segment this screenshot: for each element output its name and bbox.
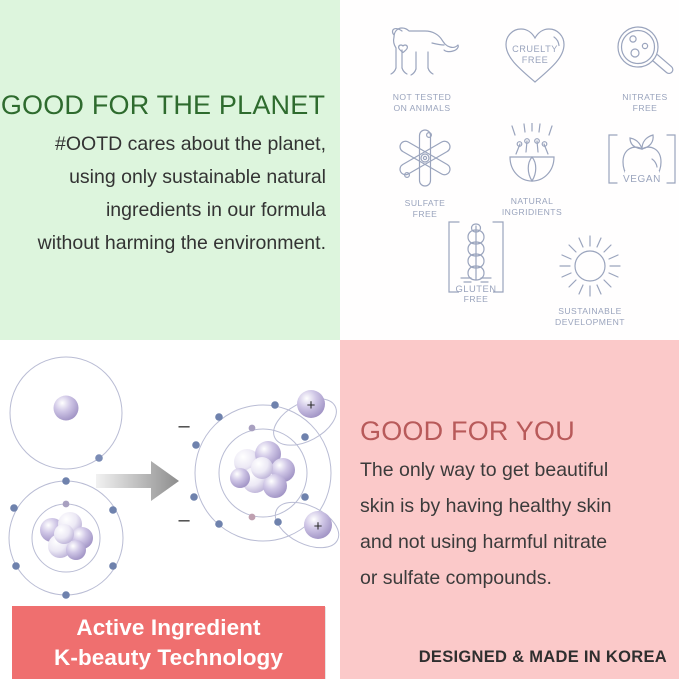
you-body-line-4: or sulfate compounds. <box>360 560 665 596</box>
product-infographic: GOOD FOR THE PLANET #OOTD cares about th… <box>0 0 679 679</box>
badge-caption-suffix: FREE <box>424 294 528 305</box>
planet-body-text: #OOTD cares about the planet, using only… <box>10 128 326 260</box>
electron-dot <box>95 454 103 462</box>
badge-caption: SUSTAINABLE DEVELOPMENT <box>538 306 642 327</box>
planet-heading: GOOD FOR THE PLANET <box>0 90 326 121</box>
sun-icon <box>538 228 642 304</box>
badge-gluten-free: GLUTEN FREE <box>424 220 528 305</box>
you-body-line-1: The only way to get beautiful <box>360 452 665 488</box>
badge-caption: NATURAL INGRIDIENTS <box>480 196 584 217</box>
you-heading: GOOD FOR YOU <box>360 416 575 447</box>
panel-good-for-the-planet: GOOD FOR THE PLANET #OOTD cares about th… <box>0 0 340 340</box>
right-arrow-icon <box>96 461 179 501</box>
banner-line-2: K-beauty Technology <box>54 643 283 673</box>
svg-text:CRUELTY: CRUELTY <box>512 44 558 54</box>
banner-line-1: Active Ingredient <box>76 613 260 643</box>
svg-text:FREE: FREE <box>522 55 549 65</box>
badge-not-tested-on-animals: NOT TESTED ON ANIMALS <box>370 14 474 113</box>
active-ingredient-banner: Active Ingredient K-beauty Technology <box>12 606 325 679</box>
badge-caption: NITRATES FREE <box>593 92 679 113</box>
planet-body-line-1: #OOTD cares about the planet, <box>10 128 326 161</box>
planet-body-line-3: ingredients in our formula <box>10 194 326 227</box>
badge-cruelty-free: CRUELTY FREE <box>483 18 587 94</box>
designed-made-in-korea-label: DESIGNED & MADE IN KOREA <box>340 648 667 667</box>
badge-natural-ingredients: NATURAL INGRIDIENTS <box>480 118 584 217</box>
atom-reaction-diagram: + + – – <box>0 340 340 602</box>
magnifying-glass-icon <box>593 14 679 90</box>
svg-text:GLUTEN: GLUTEN <box>455 283 496 294</box>
sprouting-plant-icon <box>480 118 584 194</box>
molecule-atom-icon <box>373 120 477 196</box>
badge-sulfate-free: SULFATE FREE <box>373 120 477 219</box>
nucleus-sphere <box>54 396 79 421</box>
planet-body-line-4: without harming the environment. <box>10 227 326 260</box>
you-body-line-2: skin is by having healthy skin <box>360 488 665 524</box>
you-body-line-3: and not using harmful nitrate <box>360 524 665 560</box>
badge-nitrates-free: NITRATES FREE <box>593 14 679 113</box>
nucleus-cluster-left <box>40 512 93 560</box>
you-body-text: The only way to get beautiful skin is by… <box>360 452 665 596</box>
badge-caption: NOT TESTED ON ANIMALS <box>370 92 474 113</box>
panel-active-ingredient: + + – – Active Ingredient K-beauty Techn… <box>0 340 340 679</box>
panel-certification-badges: NOT TESTED ON ANIMALS CRUELTY FREE <box>340 0 679 340</box>
plus-sign: + <box>307 397 316 414</box>
badge-sustainable-development: SUSTAINABLE DEVELOPMENT <box>538 228 642 327</box>
badge-vegan: VEGAN <box>590 122 679 198</box>
badge-grid: NOT TESTED ON ANIMALS CRUELTY FREE <box>340 0 679 340</box>
svg-text:VEGAN: VEGAN <box>623 174 661 185</box>
wheat-stalk-icon: GLUTEN <box>424 220 528 296</box>
badge-caption: SULFATE FREE <box>373 198 477 219</box>
minus-sign: – <box>178 509 190 531</box>
planet-body-line-2: using only sustainable natural <box>10 161 326 194</box>
apple-in-brackets-icon: VEGAN <box>590 122 679 198</box>
heart-icon: CRUELTY FREE <box>483 18 587 94</box>
minus-sign: – <box>178 415 190 437</box>
panel-good-for-you: GOOD FOR YOU The only way to get beautif… <box>340 340 679 679</box>
nucleus-cluster-right <box>230 441 295 498</box>
dog-with-heart-icon <box>370 14 474 90</box>
plus-sign: + <box>314 518 323 535</box>
